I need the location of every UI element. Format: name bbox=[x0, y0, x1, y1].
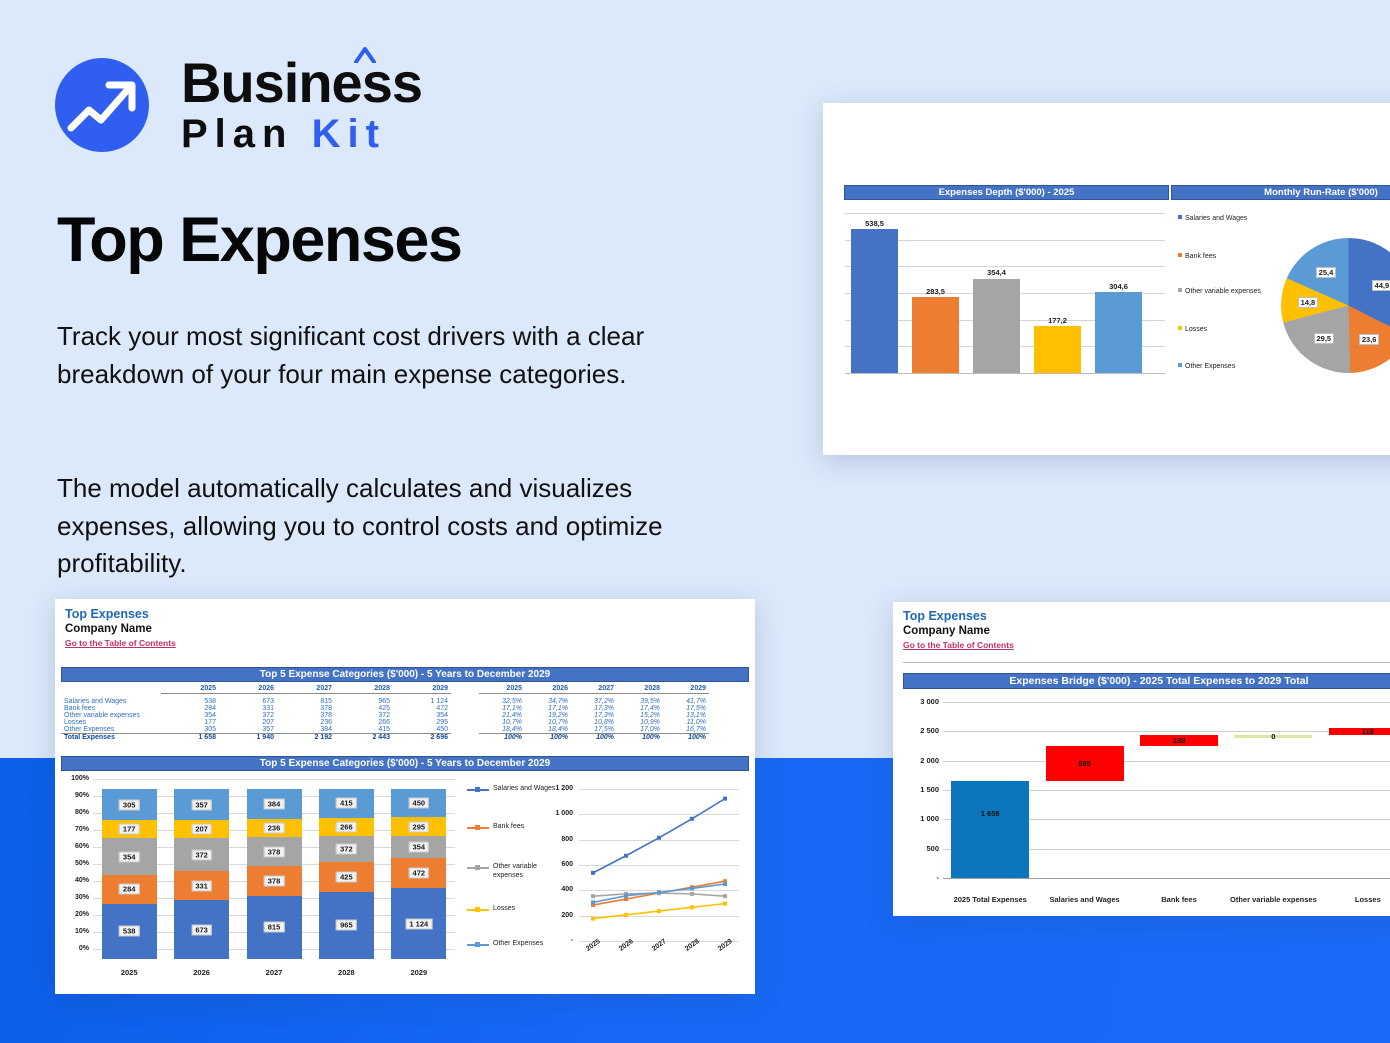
pie-slice-label: 23,6 bbox=[1359, 334, 1380, 345]
x-axis-tick: Other variable expenses bbox=[1226, 895, 1320, 904]
x-axis-tick: Losses bbox=[1321, 895, 1390, 904]
screenshot-panel-expenses-depth: Expenses Depth ($'000) - 2025 Monthly Ru… bbox=[823, 103, 1390, 455]
stack-segment: 815 bbox=[247, 896, 302, 959]
bar-value-label: 304,6 bbox=[1093, 282, 1144, 291]
y-axis-tick: 800 bbox=[543, 836, 573, 843]
gridline bbox=[943, 761, 1390, 762]
cell-pct: 100% bbox=[663, 733, 709, 741]
cell-value: 354 bbox=[393, 712, 451, 719]
cell-pct: 16,7% bbox=[663, 726, 709, 734]
y-axis-tick: 200 bbox=[543, 912, 573, 919]
segment-value-label: 965 bbox=[336, 920, 357, 931]
cell-pct: 100% bbox=[479, 733, 525, 741]
cell-pct: 10,7% bbox=[525, 719, 571, 726]
hero-paragraph-1: Track your most significant cost drivers… bbox=[57, 318, 737, 393]
table-row: Other variable expenses35437237837235421… bbox=[61, 712, 709, 719]
stack-segment: 673 bbox=[174, 900, 229, 959]
y-axis-tick: 1 500 bbox=[903, 785, 939, 794]
segment-value-label: 372 bbox=[336, 844, 357, 855]
y-axis-tick: 3 000 bbox=[903, 697, 939, 706]
segment-value-label: 378 bbox=[264, 846, 285, 857]
bar-value-label: 283,5 bbox=[910, 287, 961, 296]
cell-value: 378 bbox=[277, 712, 335, 719]
table-row: Losses17720723626629510,7%10,7%10,8%10,9… bbox=[61, 719, 709, 726]
stacked-bar-column: 415266372425965 bbox=[319, 789, 374, 959]
stack-segment: 236 bbox=[247, 819, 302, 837]
cell-pct: 34,7% bbox=[525, 698, 571, 705]
legend-item: Losses bbox=[1178, 326, 1263, 335]
cell-value: 2 443 bbox=[335, 733, 393, 741]
cell-pct: 18,4% bbox=[525, 726, 571, 734]
axis-line bbox=[845, 373, 1165, 374]
segment-value-label: 378 bbox=[264, 876, 285, 887]
y-axis-tick: 40% bbox=[61, 877, 89, 884]
legend-label: Other Expenses bbox=[1185, 363, 1235, 370]
segment-value-label: 815 bbox=[264, 922, 285, 933]
bar bbox=[851, 229, 898, 373]
segment-value-label: 357 bbox=[191, 799, 212, 810]
y-axis-tick: 0% bbox=[61, 945, 89, 952]
table-col-header: 2029 bbox=[663, 685, 709, 694]
cell-value: 372 bbox=[219, 712, 277, 719]
x-axis-tick: 2027 bbox=[247, 968, 302, 977]
y-axis-tick: 20% bbox=[61, 911, 89, 918]
bar-value-label: 538,5 bbox=[849, 219, 900, 228]
cell-value: 2 192 bbox=[277, 733, 335, 741]
stack-segment: 425 bbox=[319, 862, 374, 892]
table-total-row: Total Expenses1 6581 9402 1922 4432 6961… bbox=[61, 733, 709, 741]
toc-link[interactable]: Go to the Table of Contents bbox=[903, 640, 1014, 650]
y-axis-tick: 600 bbox=[543, 861, 573, 868]
legend-item: Salaries and Wages bbox=[1178, 215, 1263, 224]
table-col-header: 2029 bbox=[393, 685, 451, 694]
brand-name-line1: Business bbox=[181, 54, 422, 112]
segment-value-label: 472 bbox=[409, 868, 430, 879]
sheet-title: Top Expenses bbox=[903, 609, 987, 623]
pie-slice-label: 44,9 bbox=[1372, 280, 1390, 291]
cell-value: 425 bbox=[335, 705, 393, 712]
sheet-title: Top Expenses bbox=[65, 607, 149, 621]
segment-value-label: 384 bbox=[264, 798, 285, 809]
x-axis-tick: Bank fees bbox=[1132, 895, 1226, 904]
brand-word-business: Business bbox=[181, 51, 422, 114]
cell-value: 295 bbox=[393, 719, 451, 726]
table-title-top5: Top 5 Expense Categories ($'000) - 5 Yea… bbox=[61, 667, 749, 682]
cell-value: 372 bbox=[335, 712, 393, 719]
stack-segment: 1 124 bbox=[391, 888, 446, 959]
gridline bbox=[93, 779, 455, 780]
pie-slice-label: 25,4 bbox=[1316, 267, 1337, 278]
cell-value: 354 bbox=[161, 712, 219, 719]
legend-item: Bank fees bbox=[1178, 253, 1263, 262]
cell-pct: 10,7% bbox=[479, 719, 525, 726]
segment-value-label: 305 bbox=[119, 799, 140, 810]
x-axis-tick: 2026 bbox=[174, 968, 229, 977]
stack-segment: 538 bbox=[102, 904, 157, 959]
legend-marker bbox=[475, 787, 480, 792]
legend-marker bbox=[475, 825, 480, 830]
bar-value-label: 177,2 bbox=[1032, 316, 1083, 325]
legend-label: Bank fees bbox=[493, 823, 565, 832]
gridline bbox=[943, 731, 1390, 732]
cell-pct: 39,5% bbox=[617, 698, 663, 705]
chart-title-top5: Top 5 Expense Categories ($'000) - 5 Yea… bbox=[61, 756, 749, 771]
segment-value-label: 372 bbox=[191, 849, 212, 860]
brand-word-plan: Plan bbox=[181, 112, 293, 156]
chart-title-expenses-depth: Expenses Depth ($'000) - 2025 bbox=[844, 185, 1169, 200]
sheet-subtitle: Company Name bbox=[903, 625, 990, 637]
table-row: Other Expenses30535738441545018,4%18,4%1… bbox=[61, 726, 709, 734]
line-series-group bbox=[579, 775, 759, 945]
sheet-subtitle: Company Name bbox=[65, 623, 152, 635]
cell-pct: 10,8% bbox=[571, 719, 617, 726]
waterfall-chart: -5001 0001 5002 0002 5003 0001 658585189… bbox=[903, 694, 1390, 906]
cell-value: 673 bbox=[219, 698, 277, 705]
y-axis-tick: 2 500 bbox=[903, 726, 939, 735]
segment-value-label: 236 bbox=[264, 822, 285, 833]
legend-label: Other variable expenses bbox=[1185, 288, 1261, 295]
cell-value: 378 bbox=[277, 705, 335, 712]
table-col-header: 2027 bbox=[277, 685, 335, 694]
legend-label: Losses bbox=[1185, 326, 1207, 333]
cell-pct: 17,5% bbox=[571, 726, 617, 734]
legend-label: Salaries and Wages bbox=[1185, 215, 1247, 222]
segment-value-label: 266 bbox=[336, 822, 357, 833]
table-col-header: 2027 bbox=[571, 685, 617, 694]
stack-segment: 384 bbox=[247, 789, 302, 819]
waterfall-bar-label: 1 658 bbox=[951, 809, 1029, 818]
waterfall-bar-label: 189 bbox=[1140, 736, 1218, 745]
cell-value: 207 bbox=[219, 719, 277, 726]
brand-name-line2: Plan Kit bbox=[181, 112, 422, 156]
legend-marker bbox=[475, 942, 480, 947]
x-axis-tick: 2025 Total Expenses bbox=[943, 895, 1037, 904]
stack-segment: 450 bbox=[391, 789, 446, 817]
cell-pct: 19,2% bbox=[525, 712, 571, 719]
y-axis-tick: 1 200 bbox=[543, 785, 573, 792]
y-axis-tick: 400 bbox=[543, 886, 573, 893]
cell-pct: 41,7% bbox=[663, 698, 709, 705]
legend-item: Other Expenses bbox=[1178, 363, 1263, 372]
stack-segment: 305 bbox=[102, 789, 157, 820]
stack-segment: 207 bbox=[174, 820, 229, 838]
stack-segment: 354 bbox=[102, 838, 157, 874]
divider bbox=[903, 662, 1390, 663]
y-axis-tick: 90% bbox=[61, 792, 89, 799]
y-axis-tick: 1 000 bbox=[543, 810, 573, 817]
y-axis-tick: 500 bbox=[903, 844, 939, 853]
page-title: Top Expenses bbox=[57, 204, 717, 276]
pie-slice-label: 14,8 bbox=[1298, 297, 1319, 308]
brand-word-kit: Kit bbox=[312, 112, 386, 156]
cell-pct: 37,2% bbox=[571, 698, 617, 705]
y-axis-tick: - bbox=[903, 873, 939, 882]
stack-segment: 177 bbox=[102, 820, 157, 838]
cell-pct: 17,1% bbox=[525, 705, 571, 712]
bar bbox=[1034, 326, 1081, 373]
cell-pct: 15,2% bbox=[617, 712, 663, 719]
cell-value: 177 bbox=[161, 719, 219, 726]
cell-value: 538 bbox=[161, 698, 219, 705]
segment-value-label: 538 bbox=[119, 926, 140, 937]
cell-value: 384 bbox=[277, 726, 335, 734]
segment-value-label: 207 bbox=[191, 824, 212, 835]
cell-pct: 17,5% bbox=[663, 705, 709, 712]
cell-value: 415 bbox=[335, 726, 393, 734]
screenshot-panel-expenses-bridge: Top Expenses Company Name Go to the Tabl… bbox=[893, 602, 1390, 916]
table-col-header: 2025 bbox=[479, 685, 525, 694]
y-axis-tick: 30% bbox=[61, 894, 89, 901]
pie-chart-monthly-run-rate: 44,923,629,514,825,4 bbox=[1281, 238, 1390, 373]
screenshot-panel-top5-categories: Top Expenses Company Name Go to the Tabl… bbox=[55, 599, 755, 994]
segment-value-label: 415 bbox=[336, 798, 357, 809]
gridline bbox=[943, 702, 1390, 703]
cell-value: 965 bbox=[335, 698, 393, 705]
table-col-header: 2028 bbox=[335, 685, 393, 694]
waterfall-bar-label: 0 bbox=[1234, 732, 1312, 741]
stacked-bar-column: 357207372331673 bbox=[174, 789, 229, 959]
cell-value: 450 bbox=[393, 726, 451, 734]
cell-pct: 32,5% bbox=[479, 698, 525, 705]
legend-marker bbox=[475, 865, 480, 870]
segment-value-label: 177 bbox=[119, 824, 140, 835]
stacked-bar-column: 384236378378815 bbox=[247, 789, 302, 959]
waterfall-bar bbox=[951, 781, 1029, 878]
waterfall-bar-label: 585 bbox=[1046, 759, 1124, 768]
expenses-table: 2025202620272028202920252026202720282029… bbox=[61, 685, 749, 741]
hero-paragraph-2: The model automatically calculates and v… bbox=[57, 470, 737, 583]
row-label: Salaries and Wages bbox=[61, 698, 161, 705]
row-label: Bank fees bbox=[61, 705, 161, 712]
row-label: Other Expenses bbox=[61, 726, 161, 734]
bar bbox=[912, 297, 959, 373]
chart-title-monthly-run-rate: Monthly Run-Rate ($'000) bbox=[1171, 185, 1390, 200]
table: 2025202620272028202920252026202720282029… bbox=[61, 685, 709, 741]
cell-pct: 11,0% bbox=[663, 719, 709, 726]
stacked-bar-column: 4502953544721 124 bbox=[391, 789, 446, 959]
cell-value: 1 124 bbox=[393, 698, 451, 705]
table-row: Bank fees28433137842547217,1%17,1%17,3%1… bbox=[61, 705, 709, 712]
stack-segment: 415 bbox=[319, 789, 374, 818]
segment-value-label: 284 bbox=[119, 884, 140, 895]
cell-value: 284 bbox=[161, 705, 219, 712]
y-axis-tick: 2 000 bbox=[903, 756, 939, 765]
y-axis-tick: 50% bbox=[61, 860, 89, 867]
cell-value: 331 bbox=[219, 705, 277, 712]
y-axis-tick: 60% bbox=[61, 843, 89, 850]
table-col-header: 2026 bbox=[525, 685, 571, 694]
bar-value-label: 354,4 bbox=[971, 268, 1022, 277]
table-col-header: 2025 bbox=[161, 685, 219, 694]
gridline bbox=[845, 213, 1165, 214]
cell-pct: 17,3% bbox=[571, 712, 617, 719]
stack-segment: 295 bbox=[391, 817, 446, 836]
cell-value: 815 bbox=[277, 698, 335, 705]
cell-value: 1 940 bbox=[219, 733, 277, 741]
table-col-header: 2028 bbox=[617, 685, 663, 694]
stack-segment: 472 bbox=[391, 858, 446, 888]
stack-segment: 372 bbox=[319, 836, 374, 862]
cell-value: 305 bbox=[161, 726, 219, 734]
legend-label: Bank fees bbox=[1185, 253, 1216, 260]
cell-value: 472 bbox=[393, 705, 451, 712]
segment-value-label: 354 bbox=[409, 842, 430, 853]
segment-value-label: 425 bbox=[336, 872, 357, 883]
y-axis-tick: 100% bbox=[61, 775, 89, 782]
y-axis-tick: 10% bbox=[61, 928, 89, 935]
cell-value: 357 bbox=[219, 726, 277, 734]
stack-segment: 284 bbox=[102, 875, 157, 904]
x-axis-tick: 2028 bbox=[319, 968, 374, 977]
legend-item: Other variable expenses bbox=[1178, 288, 1263, 297]
stack-segment: 357 bbox=[174, 789, 229, 820]
line-chart-expense-trends: Salaries and WagesBank feesOther variabl… bbox=[461, 775, 749, 985]
axis-line bbox=[943, 878, 1390, 879]
stacked-bar-column: 305177354284538 bbox=[102, 789, 157, 959]
toc-link[interactable]: Go to the Table of Contents bbox=[65, 638, 176, 648]
cell-pct: 17,4% bbox=[617, 705, 663, 712]
cell-pct: 10,9% bbox=[617, 719, 663, 726]
x-axis-tick: 2029 bbox=[391, 968, 446, 977]
segment-value-label: 354 bbox=[119, 851, 140, 862]
trend-arrow-icon bbox=[55, 58, 149, 152]
cell-value: 2 696 bbox=[393, 733, 451, 741]
chart-title-expenses-bridge: Expenses Bridge ($'000) - 2025 Total Exp… bbox=[903, 673, 1390, 689]
x-axis-tick: Salaries and Wages bbox=[1037, 895, 1131, 904]
stack-segment: 965 bbox=[319, 892, 374, 959]
cell-pct: 100% bbox=[571, 733, 617, 741]
bar bbox=[1095, 292, 1142, 373]
segment-value-label: 331 bbox=[191, 880, 212, 891]
stack-segment: 331 bbox=[174, 871, 229, 900]
cell-pct: 17,0% bbox=[617, 726, 663, 734]
y-axis-tick: 80% bbox=[61, 809, 89, 816]
bar-chart-expenses-depth: 538,5283,5354,4177,2304,6 bbox=[835, 203, 1175, 383]
segment-value-label: 295 bbox=[409, 821, 430, 832]
table-col-header: 2026 bbox=[219, 685, 277, 694]
cell-pct: 100% bbox=[525, 733, 571, 741]
stack-segment: 354 bbox=[391, 836, 446, 858]
x-axis-tick: 2025 bbox=[102, 968, 157, 977]
y-axis-tick: 1 000 bbox=[903, 814, 939, 823]
segment-value-label: 1 124 bbox=[405, 918, 432, 929]
cell-pct: 100% bbox=[617, 733, 663, 741]
y-axis-tick: 70% bbox=[61, 826, 89, 833]
row-label: Total Expenses bbox=[61, 733, 161, 741]
cell-pct: 17,1% bbox=[479, 705, 525, 712]
table-row: Salaries and Wages5386738159651 12432,5%… bbox=[61, 698, 709, 705]
stack-segment: 378 bbox=[247, 837, 302, 866]
cell-value: 266 bbox=[335, 719, 393, 726]
waterfall-bar-label: 118 bbox=[1329, 727, 1390, 736]
row-label: Losses bbox=[61, 719, 161, 726]
cell-pct: 13,1% bbox=[663, 712, 709, 719]
y-axis-tick: - bbox=[543, 937, 573, 944]
circumflex-accent-icon bbox=[354, 47, 376, 63]
row-label: Other variable expenses bbox=[61, 712, 161, 719]
brand-logo: Business Plan Kit bbox=[55, 54, 495, 162]
cell-value: 1 658 bbox=[161, 733, 219, 741]
segment-value-label: 673 bbox=[191, 924, 212, 935]
pie-slice-label: 29,5 bbox=[1314, 333, 1335, 344]
legend-marker bbox=[475, 907, 480, 912]
stack-segment: 378 bbox=[247, 866, 302, 895]
stack-segment: 266 bbox=[319, 818, 374, 837]
cell-value: 236 bbox=[277, 719, 335, 726]
cell-pct: 17,3% bbox=[571, 705, 617, 712]
bar bbox=[973, 279, 1020, 374]
cell-pct: 18,4% bbox=[479, 726, 525, 734]
stack-segment: 372 bbox=[174, 838, 229, 871]
segment-value-label: 450 bbox=[409, 798, 430, 809]
stacked-bar-chart: 0%10%20%30%40%50%60%70%80%90%100%3051773… bbox=[61, 775, 461, 985]
cell-pct: 21,4% bbox=[479, 712, 525, 719]
